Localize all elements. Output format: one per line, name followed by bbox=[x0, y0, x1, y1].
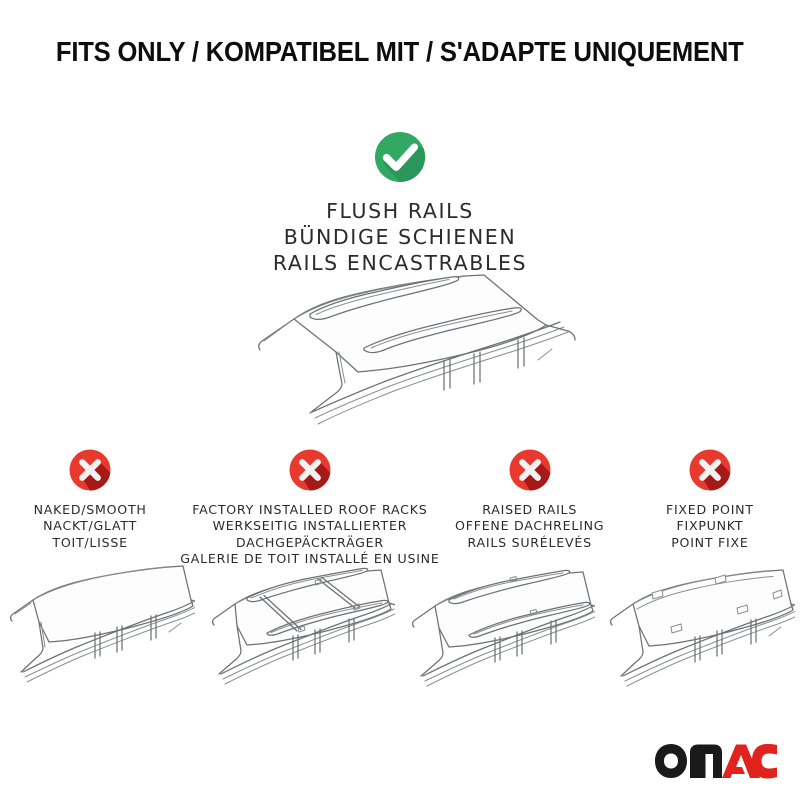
compatible-label-en: FLUSH RAILS bbox=[273, 198, 527, 224]
car-roof-flush-rails-illustration bbox=[238, 268, 584, 436]
car-roof-with-crossbars-illustration bbox=[205, 556, 395, 696]
incompatible-item-factory-installed-roof-racks: FACTORY INSTALLED ROOF RACKS WERKSEITIG … bbox=[180, 448, 439, 568]
label-line-3: POINT FIXE bbox=[666, 535, 754, 551]
logo-letter-m bbox=[690, 745, 722, 779]
label-line-1: NAKED/SMOOTH bbox=[34, 502, 147, 518]
compatible-labels: FLUSH RAILS BÜNDIGE SCHIENEN RAILS ENCAS… bbox=[273, 198, 527, 276]
label-line-2: NACKT/GLATT bbox=[34, 518, 147, 534]
x-circle-icon bbox=[688, 448, 732, 492]
compatible-label-de: BÜNDIGE SCHIENEN bbox=[273, 224, 527, 250]
car-roof-raised-rails-illustration bbox=[405, 556, 595, 696]
illustration-cell bbox=[0, 556, 200, 696]
label-line-2: OFFENE DACHRELING bbox=[455, 518, 604, 534]
x-circle-icon bbox=[288, 448, 332, 492]
incompatible-illustrations bbox=[0, 556, 800, 696]
incompatible-labels: NAKED/SMOOTH NACKT/GLATT TOIT/LISSE bbox=[34, 502, 147, 551]
label-line-2: WERKSEITIG INSTALLIERTER bbox=[180, 518, 439, 534]
incompatible-item-naked-smooth: NAKED/SMOOTH NACKT/GLATT TOIT/LISSE bbox=[0, 448, 180, 568]
x-circle-icon bbox=[68, 448, 112, 492]
illustration-cell bbox=[600, 556, 800, 696]
car-roof-fixed-point-illustration bbox=[605, 556, 795, 696]
check-circle-icon bbox=[373, 130, 427, 184]
label-line-3: DACHGEPÄCKTRÄGER bbox=[180, 535, 439, 551]
page-title: FITS ONLY / KOMPATIBEL MIT / S'ADAPTE UN… bbox=[56, 36, 744, 68]
label-line-2: FIXPUNKT bbox=[666, 518, 754, 534]
incompatible-item-raised-rails: RAISED RAILS OFFENE DACHRELING RAILS SUR… bbox=[440, 448, 620, 568]
header: FITS ONLY / KOMPATIBEL MIT / S'ADAPTE UN… bbox=[0, 0, 800, 104]
logo-letter-o bbox=[655, 744, 687, 778]
compatible-section: FLUSH RAILS BÜNDIGE SCHIENEN RAILS ENCAS… bbox=[0, 130, 800, 276]
label-line-1: RAISED RAILS bbox=[455, 502, 604, 518]
logo-letter-c bbox=[752, 744, 777, 779]
incompatible-labels: RAISED RAILS OFFENE DACHRELING RAILS SUR… bbox=[455, 502, 604, 551]
label-line-1: FIXED POINT bbox=[666, 502, 754, 518]
label-line-3: RAILS SURÉLEVÉS bbox=[455, 535, 604, 551]
label-line-3: TOIT/LISSE bbox=[34, 535, 147, 551]
incompatible-labels: FIXED POINT FIXPUNKT POINT FIXE bbox=[666, 502, 754, 551]
omac-logo bbox=[654, 742, 778, 782]
incompatible-item-fixed-point: FIXED POINT FIXPUNKT POINT FIXE bbox=[620, 448, 800, 568]
illustration-cell bbox=[200, 556, 400, 696]
x-circle-icon bbox=[508, 448, 552, 492]
car-roof-bare-illustration bbox=[5, 556, 195, 696]
label-line-1: FACTORY INSTALLED ROOF RACKS bbox=[180, 502, 439, 518]
illustration-cell bbox=[400, 556, 600, 696]
incompatible-section: NAKED/SMOOTH NACKT/GLATT TOIT/LISSE FACT… bbox=[0, 448, 800, 568]
